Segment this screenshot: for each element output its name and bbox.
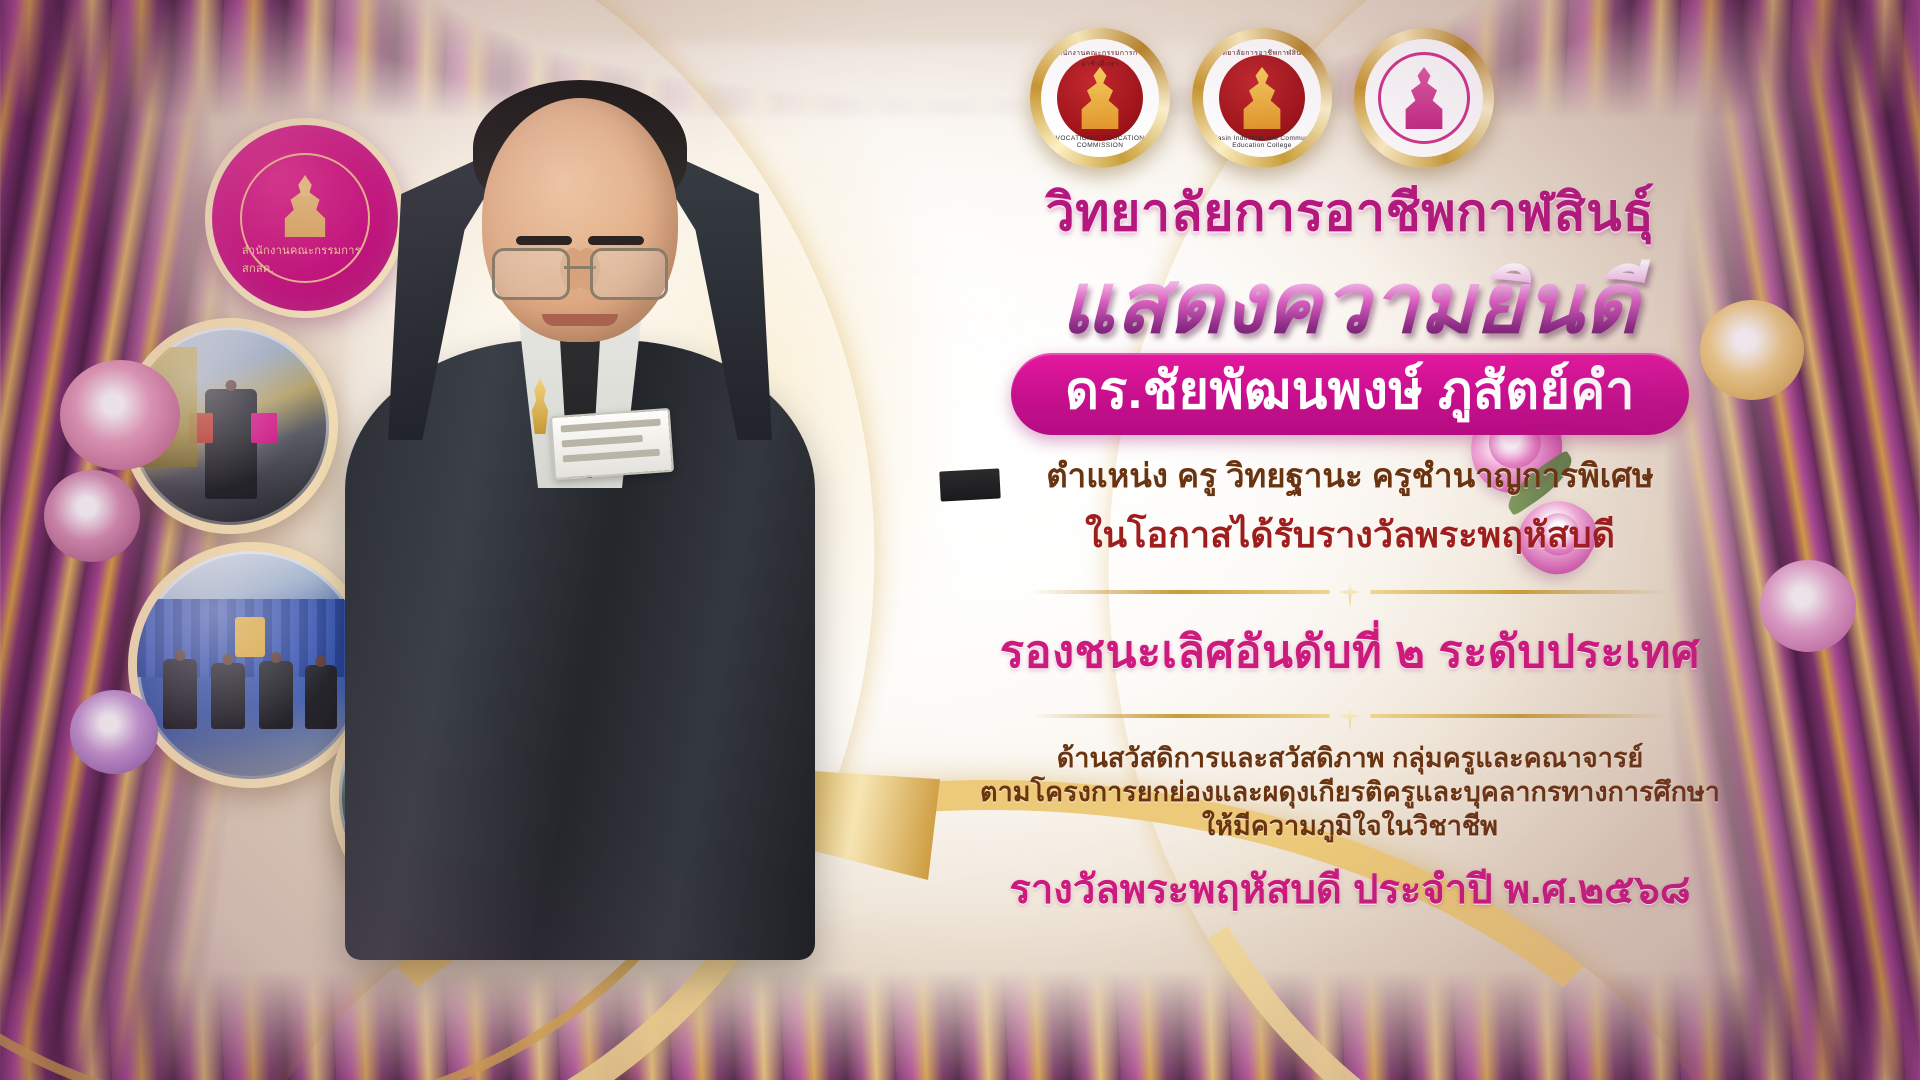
vignette-overlay bbox=[0, 0, 1920, 1080]
poster-canvas: สำนักงานคณะกรรมการ สกสค. bbox=[0, 0, 1920, 1080]
